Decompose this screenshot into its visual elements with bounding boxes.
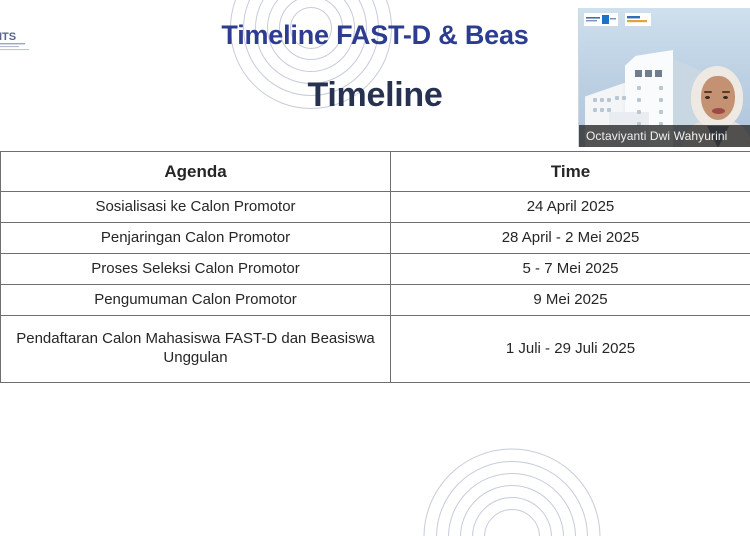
table-row: Pendaftaran Calon Mahasiswa FAST-D dan B… — [1, 316, 750, 383]
column-header-time: Time — [391, 152, 750, 192]
video-participant-tile[interactable]: Octaviyanti Dwi Wahyurini — [578, 8, 750, 147]
cell-agenda: Sosialisasi ke Calon Promotor — [1, 192, 391, 223]
cell-time: 1 Juli - 29 Juli 2025 — [391, 316, 750, 383]
video-background-logos — [584, 13, 651, 26]
table-header-row: Agenda Time — [1, 152, 750, 192]
cell-agenda: Pendaftaran Calon Mahasiswa FAST-D dan B… — [1, 316, 391, 383]
cell-agenda: Pengumuman Calon Promotor — [1, 285, 391, 316]
table-row: Proses Seleksi Calon Promotor 5 - 7 Mei … — [1, 254, 750, 285]
decorative-rings-bottom — [424, 449, 599, 536]
table-row: Sosialisasi ke Calon Promotor 24 April 2… — [1, 192, 750, 223]
partner-logo-a-icon — [584, 13, 618, 26]
table-row: Penjaringan Calon Promotor 28 April - 2 … — [1, 223, 750, 254]
cell-time: 24 April 2025 — [391, 192, 750, 223]
cell-time: 28 April - 2 Mei 2025 — [391, 223, 750, 254]
participant-name: Octaviyanti Dwi Wahyurini — [586, 129, 727, 143]
participant-name-bar: Octaviyanti Dwi Wahyurini — [579, 125, 750, 147]
cell-time: 9 Mei 2025 — [391, 285, 750, 316]
cell-time: 5 - 7 Mei 2025 — [391, 254, 750, 285]
column-header-agenda: Agenda — [1, 152, 391, 192]
cell-agenda: Penjaringan Calon Promotor — [1, 223, 391, 254]
partner-logo-b-icon — [625, 13, 651, 26]
cell-agenda: Proses Seleksi Calon Promotor — [1, 254, 391, 285]
presentation-slide: ITS Timeline FAST-D & Beas Timeline Agen… — [0, 0, 750, 536]
timeline-table: Agenda Time Sosialisasi ke Calon Promoto… — [0, 151, 750, 383]
table-row: Pengumuman Calon Promotor 9 Mei 2025 — [1, 285, 750, 316]
